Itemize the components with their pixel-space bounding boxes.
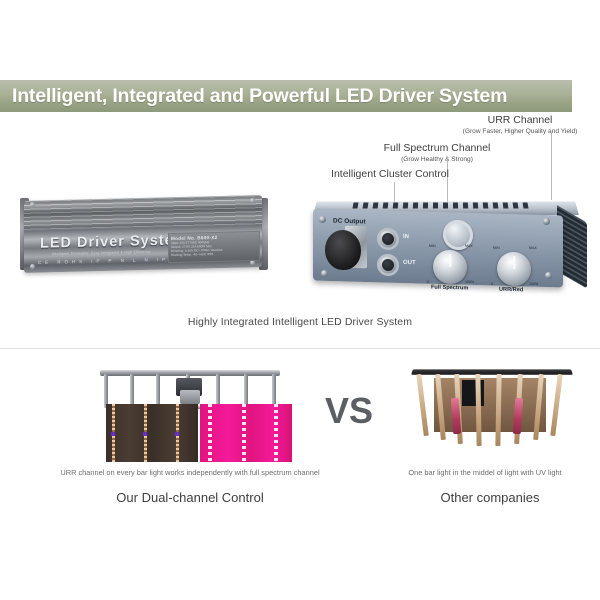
connector-in[interactable]	[377, 228, 399, 251]
fixture-rail	[100, 370, 280, 376]
comparison-right-title: Other companies	[390, 490, 590, 505]
led-driver-unit-front-panel: DC Output IN OUT MIN MAX 0 100% Full Spe…	[305, 192, 590, 302]
screw-icon	[545, 272, 552, 279]
product-infographic: Intelligent, Integrated and Powerful LED…	[0, 0, 600, 600]
screw-icon	[30, 264, 35, 269]
vs-label: VS	[325, 390, 373, 432]
connector-out[interactable]	[377, 254, 399, 277]
light-bar	[550, 374, 563, 436]
comparison-right-small-caption: One bar light in the middel of light wit…	[375, 468, 595, 477]
knob-tick-max: MAX	[529, 246, 537, 250]
mid-section-caption: Highly Integrated Intelligent LED Driver…	[0, 316, 600, 328]
screw-icon	[321, 270, 328, 277]
comparison-left-small-caption: URR channel on every bar light works ind…	[40, 468, 340, 477]
knob-tick-min: MIN	[429, 244, 436, 248]
callout-intelligent-cluster-control: Intelligent Cluster Control	[330, 168, 450, 181]
callout-full-spectrum-channel: Full Spectrum Channel (Grow Healthy & St…	[362, 142, 512, 164]
knob-tick-min: MIN	[493, 246, 500, 250]
knob-urr-red-label: URR/Red	[499, 287, 523, 294]
title-banner: Intelligent, Integrated and Powerful LED…	[0, 80, 572, 112]
connector-in-label: IN	[403, 234, 409, 240]
knob-tick-zero: 0	[491, 282, 493, 286]
grow-light-fixture-competitor	[400, 368, 580, 460]
callout-urr-channel: URR Channel (Grow Faster, Higher Quality…	[440, 114, 600, 136]
page-title: Intelligent, Integrated and Powerful LED…	[0, 85, 507, 108]
callout-urr-title: URR Channel	[440, 114, 600, 127]
light-bar	[416, 374, 429, 436]
knob-tick-hundred: 100%	[465, 280, 474, 284]
heatsink-fins	[24, 195, 262, 230]
dc-output-rubber-cap[interactable]	[325, 229, 361, 270]
light-bar	[495, 374, 501, 446]
screw-icon	[250, 198, 255, 203]
screw-icon	[319, 216, 326, 223]
light-bar	[156, 374, 160, 408]
callout-full-spectrum-title: Full Spectrum Channel	[362, 142, 512, 155]
connector-out-label: OUT	[403, 260, 416, 266]
section-divider	[0, 348, 600, 349]
light-bar	[130, 374, 134, 408]
knob-full-spectrum-label: Full Spectrum	[431, 284, 468, 291]
screw-icon	[543, 218, 550, 225]
knob-tick-zero: 0	[427, 280, 429, 284]
callout-cluster-title: Intelligent Cluster Control	[330, 168, 450, 181]
light-bar	[272, 374, 276, 408]
fixture-driver-box-lower	[180, 390, 200, 404]
screw-icon	[30, 202, 35, 207]
knob-tick-hundred: 100%	[529, 282, 538, 286]
callout-urr-subtitle: (Grow Faster, Higher Quality and Yield)	[440, 127, 600, 136]
callout-full-spectrum-subtitle: (Grow Healthy & Strong)	[362, 155, 512, 164]
comparison-left-title: Our Dual-channel Control	[60, 490, 320, 505]
light-bar	[104, 374, 108, 408]
knob-urr-red[interactable]	[497, 252, 531, 287]
ventilation-slots	[352, 203, 533, 209]
dc-output-label: DC Output	[333, 218, 366, 226]
knob-tick-max: MAX	[465, 244, 473, 248]
light-output-panel-full-spectrum	[106, 404, 198, 462]
light-bar	[216, 374, 220, 408]
driver-spec-label: Model No. B600-X2 Input: 100-277VAC 50/6…	[168, 231, 260, 263]
leader-line-urr	[551, 133, 552, 200]
light-output-panel-urr	[200, 404, 292, 462]
knob-full-spectrum[interactable]	[433, 250, 467, 285]
led-driver-unit-top-view: LED Driver System Intelligent Dimmable, …	[18, 188, 268, 280]
light-bar	[244, 374, 248, 408]
